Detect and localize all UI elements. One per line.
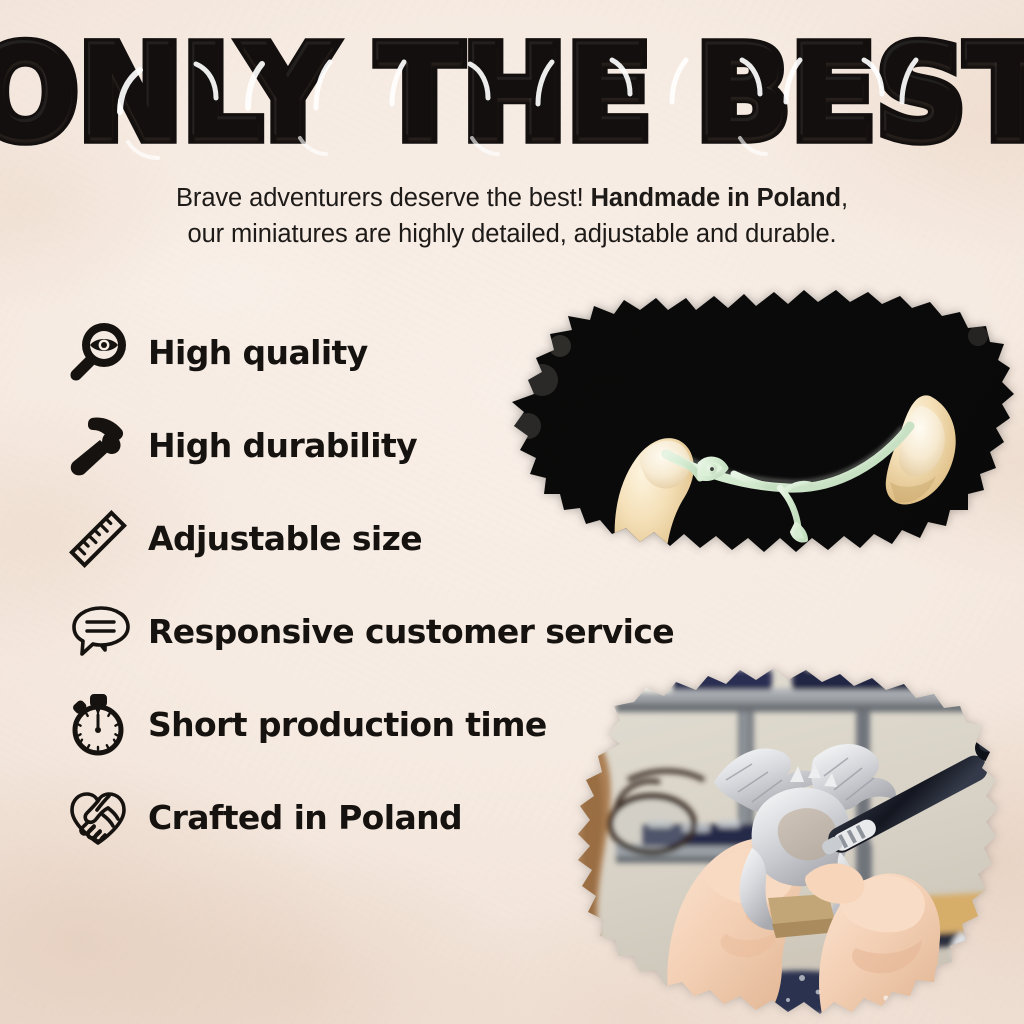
feature-item-adjustable-size: Adjustable size bbox=[62, 492, 762, 585]
feature-label: High durability bbox=[148, 426, 417, 465]
feature-label: Short production time bbox=[148, 705, 547, 744]
page-title: ONLY THE BEST bbox=[0, 34, 1024, 157]
feature-label: Adjustable size bbox=[148, 519, 422, 558]
handmade-in-poland-emphasis: Handmade in Poland bbox=[591, 184, 841, 212]
right-hand bbox=[805, 864, 940, 1024]
speech-bubbles-icon bbox=[62, 596, 134, 668]
feature-item-high-quality: High quality bbox=[62, 306, 762, 399]
ruler-icon bbox=[62, 503, 134, 575]
feature-item-crafted-in-poland: Crafted in Poland bbox=[62, 771, 762, 864]
feature-item-high-durability: High durability bbox=[62, 399, 762, 492]
feature-label: Responsive customer service bbox=[148, 612, 674, 651]
promo-graphic: ONLY THE BEST bbox=[0, 0, 1024, 1024]
subtitle-line-1-pre: Brave adventurers deserve the best! bbox=[176, 184, 591, 212]
magnifier-eye-icon bbox=[62, 317, 134, 389]
subtitle-line-1: Brave adventurers deserve the best! Hand… bbox=[96, 180, 928, 216]
subtitle: Brave adventurers deserve the best! Hand… bbox=[96, 180, 928, 252]
subtitle-line-2: our miniatures are highly detailed, adju… bbox=[96, 216, 928, 252]
handshake-heart-icon bbox=[62, 782, 134, 854]
subtitle-line-1-post: , bbox=[841, 184, 848, 212]
feature-item-short-production-time: Short production time bbox=[62, 678, 762, 771]
hammer-icon bbox=[62, 410, 134, 482]
headline-wrap: ONLY THE BEST bbox=[0, 34, 1024, 142]
feature-label: Crafted in Poland bbox=[148, 798, 462, 837]
feature-list: High quality High durability bbox=[62, 306, 762, 864]
stopwatch-icon bbox=[62, 689, 134, 761]
feature-item-responsive-customer-service: Responsive customer service bbox=[62, 585, 762, 678]
feature-label: High quality bbox=[148, 333, 368, 372]
